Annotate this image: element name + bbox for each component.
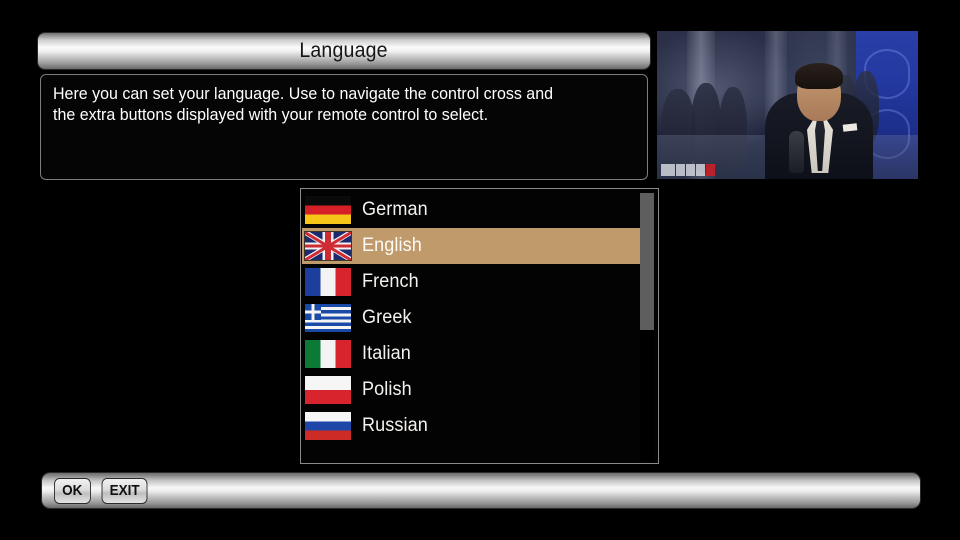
video-preview[interactable] [657, 31, 918, 179]
language-label: Greek [362, 307, 412, 329]
microphone-icon [789, 131, 804, 173]
flag-united-kingdom-icon [305, 232, 351, 260]
language-label: French [362, 271, 419, 293]
language-label: Russian [362, 415, 428, 437]
exit-button[interactable]: EXIT [101, 478, 147, 504]
reporter-pocket-square [843, 123, 858, 131]
language-row-greek[interactable]: Greek [302, 300, 640, 336]
tv-settings-screen: Language Here you can set your language.… [0, 0, 960, 540]
language-row-german[interactable]: German [302, 192, 640, 228]
language-row-french[interactable]: French [302, 264, 640, 300]
language-label: Polish [362, 379, 412, 401]
language-list[interactable]: GermanEnglishFrenchGreekItalianPolishRus… [302, 192, 640, 444]
flag-russia-icon [305, 412, 351, 440]
language-label: English [362, 235, 422, 257]
list-scrollbar-thumb[interactable] [640, 193, 654, 330]
language-row-russian[interactable]: Russian [302, 408, 640, 444]
flag-italy-icon [305, 340, 351, 368]
list-scrollbar-track[interactable] [640, 193, 654, 461]
page-title-bar: Language [38, 33, 650, 69]
page-title: Language [300, 39, 388, 63]
flag-greece-icon [305, 304, 351, 332]
news-channel-bug-icon [661, 164, 715, 176]
language-label: Italian [362, 343, 411, 365]
language-list-panel[interactable]: GermanEnglishFrenchGreekItalianPolishRus… [300, 188, 659, 464]
language-row-polish[interactable]: Polish [302, 372, 640, 408]
flag-france-icon [305, 268, 351, 296]
language-row-english[interactable]: English [302, 228, 640, 264]
language-row-italian[interactable]: Italian [302, 336, 640, 372]
ok-button[interactable]: OK [54, 478, 90, 504]
description-panel: Here you can set your language. Use to n… [40, 74, 648, 180]
union-jack-diagonals [305, 232, 351, 260]
bottom-action-bar: OK EXIT [42, 473, 920, 508]
language-label: German [362, 199, 428, 221]
reporter-hair [795, 63, 843, 89]
description-text: Here you can set your language. Use to n… [53, 84, 618, 126]
flag-poland-icon [305, 376, 351, 404]
flag-germany-icon [305, 196, 351, 224]
